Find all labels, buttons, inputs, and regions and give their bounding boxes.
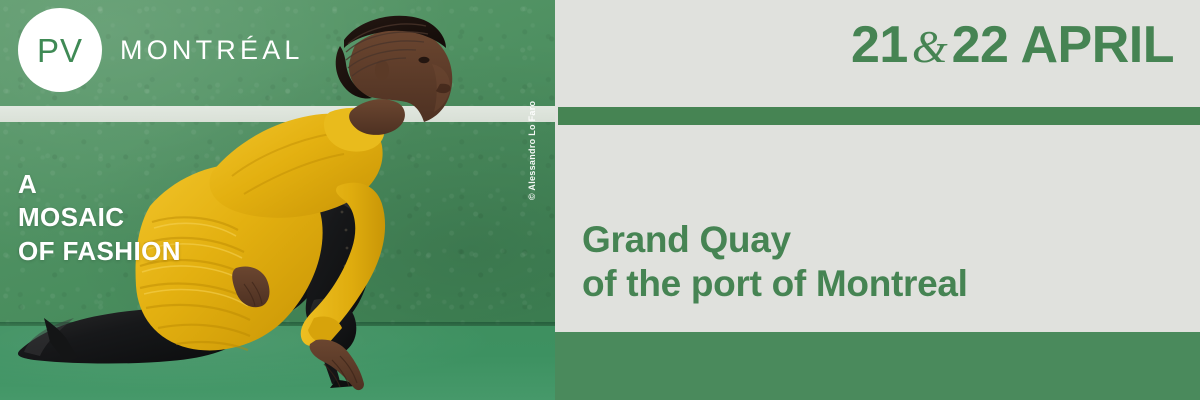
- bottom-green-band: [555, 332, 1200, 400]
- logo-wordmark: MONTRÉAL: [120, 37, 304, 64]
- venue-line-1: Grand Quay: [582, 218, 968, 262]
- venue-line-2: of the port of Montreal: [582, 262, 968, 306]
- green-divider-rule: [558, 107, 1200, 125]
- tagline: A MOSAIC OF FASHION: [18, 168, 181, 268]
- date-day-two: 22: [952, 16, 1009, 74]
- date-separator: &: [908, 21, 952, 72]
- photo-credit: © Alessandro Lo Faro: [527, 101, 537, 200]
- event-banner: PV MONTRÉAL A MOSAIC OF FASHION © Alessa…: [0, 0, 1200, 400]
- tagline-line-3: OF FASHION: [18, 236, 181, 266]
- venue-name: Grand Quay of the port of Montreal: [582, 218, 968, 307]
- info-panel: 21&22 APRIL Grand Quay of the port of Mo…: [555, 0, 1200, 400]
- event-date: 21&22 APRIL: [555, 16, 1200, 74]
- photo-panel: PV MONTRÉAL A MOSAIC OF FASHION © Alessa…: [0, 0, 555, 400]
- logo-lockup: PV MONTRÉAL: [18, 8, 304, 92]
- date-day-one: 21: [851, 16, 908, 74]
- tagline-line-1: A: [18, 169, 37, 199]
- logo-monogram: PV: [37, 34, 83, 67]
- tagline-line-2: MOSAIC: [18, 202, 124, 232]
- date-month: APRIL: [1021, 16, 1175, 74]
- logo-circle-badge: PV: [18, 8, 102, 92]
